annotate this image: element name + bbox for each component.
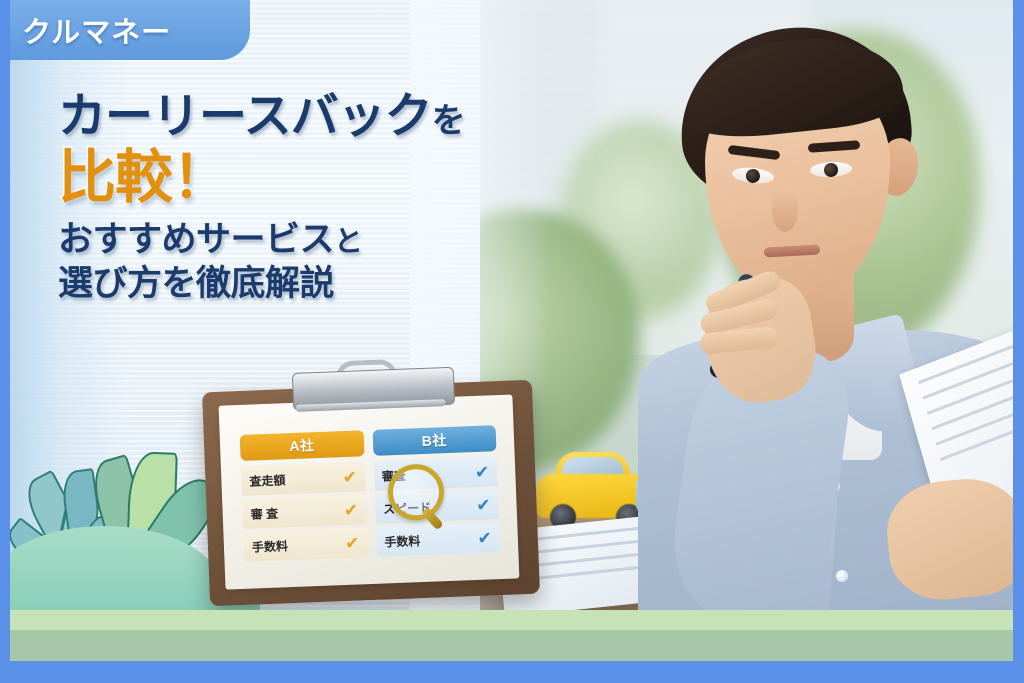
pupil bbox=[824, 163, 839, 178]
frame-border-left bbox=[0, 0, 10, 683]
headline-line-3: おすすめサービスと bbox=[58, 219, 618, 261]
nose bbox=[772, 190, 798, 232]
bottom-band-green bbox=[10, 630, 1014, 662]
comparison-table: A社 B社 査走額 ✔ 審 査 ✔ 手数料 bbox=[240, 425, 501, 565]
row-label: 手数料 bbox=[384, 532, 421, 550]
headline-block: カーリースバックを 比較！ おすすめサービスと 選び方を徹底解説 bbox=[58, 92, 618, 305]
check-icon: ✔ bbox=[345, 534, 360, 552]
table-row: 査走額 ✔ bbox=[241, 461, 366, 496]
row-label: 審 査 bbox=[250, 504, 278, 522]
headline-line-3-particle: と bbox=[334, 226, 363, 258]
check-icon: ✔ bbox=[344, 501, 359, 519]
frame-border-bottom bbox=[0, 661, 1024, 683]
row-label: 手数料 bbox=[252, 537, 289, 555]
headline-line-1: カーリースバックを bbox=[58, 92, 618, 142]
banner-frame: A社 B社 査走額 ✔ 審 査 ✔ 手数料 bbox=[10, 0, 1014, 672]
check-icon: ✔ bbox=[477, 529, 492, 547]
shirt-button bbox=[836, 570, 848, 582]
check-icon: ✔ bbox=[476, 496, 491, 514]
headline-accent: 比較！ bbox=[58, 148, 618, 209]
company-b-header: B社 bbox=[372, 425, 496, 456]
headline-line-1-main: カーリースバック bbox=[58, 90, 432, 143]
clipboard-comparison: A社 B社 査走額 ✔ 審 査 ✔ 手数料 bbox=[202, 380, 540, 607]
check-icon: ✔ bbox=[475, 463, 490, 481]
headline-line-1-particle: を bbox=[432, 102, 465, 140]
headline-line-4: 選び方を徹底解説 bbox=[58, 263, 618, 305]
pupil bbox=[745, 168, 760, 183]
brand-name: クルマネー bbox=[22, 9, 171, 51]
hero-banner: A社 B社 査走額 ✔ 審 査 ✔ 手数料 bbox=[0, 0, 1024, 683]
table-body: 査走額 ✔ 審 査 ✔ 手数料 ✔ bbox=[241, 456, 501, 565]
table-row: 手数料 ✔ bbox=[243, 527, 368, 562]
brand-badge[interactable]: クルマネー bbox=[0, 0, 250, 60]
bottom-band-light bbox=[10, 610, 1014, 630]
frame-border-right bbox=[1013, 0, 1024, 683]
company-a-header: A社 bbox=[240, 430, 364, 461]
headline-line-3-main: おすすめサービス bbox=[58, 220, 334, 259]
table-row: 審 査 ✔ bbox=[242, 494, 367, 529]
company-a-column: 査走額 ✔ 審 査 ✔ 手数料 ✔ bbox=[241, 461, 368, 565]
check-icon: ✔ bbox=[342, 468, 357, 486]
row-label: 査走額 bbox=[249, 471, 286, 489]
person-illustration bbox=[620, 10, 1014, 612]
